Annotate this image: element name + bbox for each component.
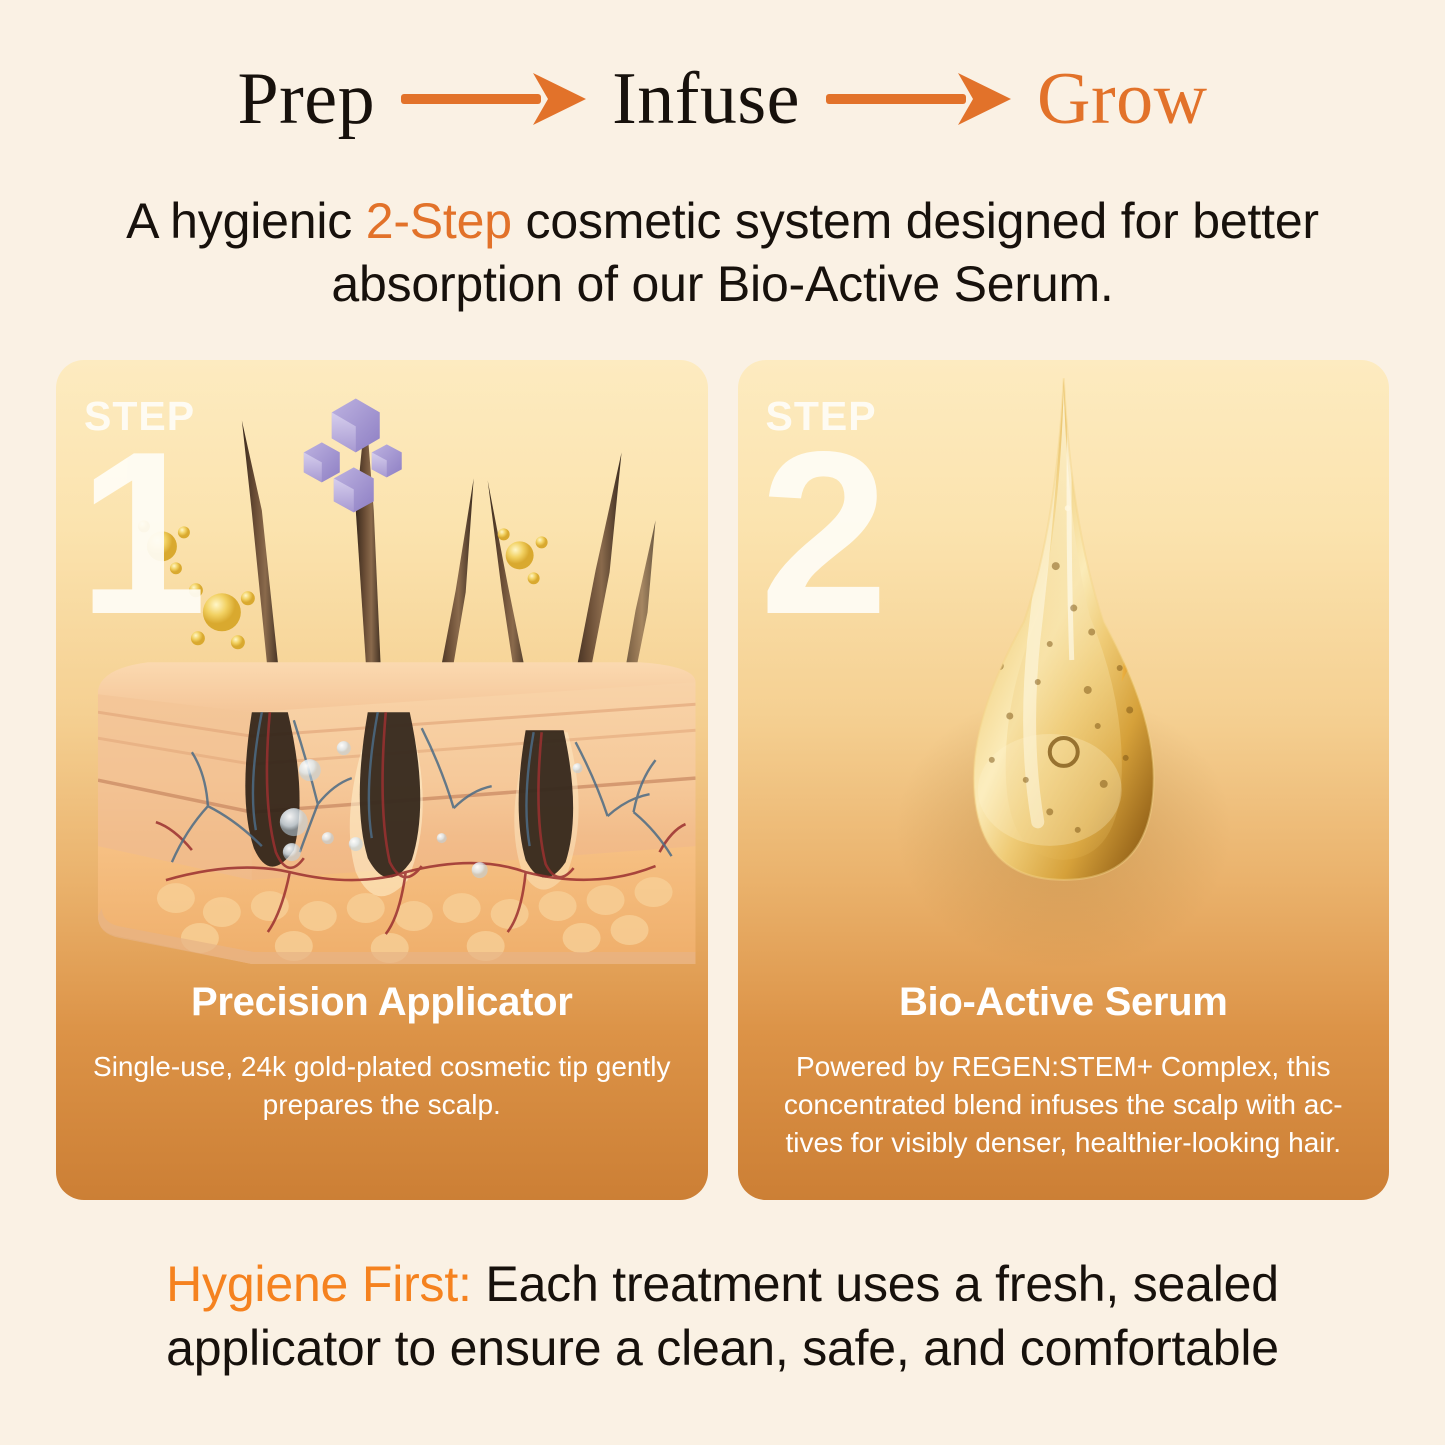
serum-droplet <box>973 378 1163 880</box>
step-cards: STEP 1 Precision Applicator Single-use, … <box>56 360 1389 1200</box>
hygiene-note: Hygiene First: Each treatment uses a fre… <box>95 1252 1350 1380</box>
arrow-right-icon <box>401 71 586 127</box>
card-body-2: Powered by REGEN:STEM+ Complex, this con… <box>772 1048 1356 1162</box>
skin-block <box>98 662 696 964</box>
hair-strands <box>242 408 656 698</box>
subtitle: A hygienic 2-Step cosmetic system design… <box>95 190 1350 316</box>
hygiene-note-highlight: Hygiene First: <box>166 1256 472 1312</box>
molecule-cube-icon <box>304 398 402 512</box>
card-body-1: Single-use, 24k gold-plated cosmetic tip… <box>90 1048 674 1124</box>
subtitle-highlight: 2-Step <box>366 193 512 249</box>
flow-step-infuse: Infuse <box>612 62 800 136</box>
card-title-2: Bio-Active Serum <box>738 980 1390 1025</box>
subtitle-lead: A hygienic <box>126 193 366 249</box>
flow-step-prep: Prep <box>237 62 375 136</box>
infographic-page: Prep Infuse Grow A hygienic 2-Step cosme… <box>0 0 1445 1445</box>
step-number-1: 1 <box>78 418 203 650</box>
step-card-2[interactable]: STEP 2 Bio-Active Serum Powered by REGEN… <box>738 360 1390 1200</box>
card-title-1: Precision Applicator <box>56 980 708 1025</box>
flow-step-grow: Grow <box>1037 62 1208 136</box>
step-card-1[interactable]: STEP 1 Precision Applicator Single-use, … <box>56 360 708 1200</box>
process-flow: Prep Infuse Grow <box>0 62 1445 136</box>
step-number-2: 2 <box>760 418 885 650</box>
arrow-right-icon-2 <box>826 71 1011 127</box>
